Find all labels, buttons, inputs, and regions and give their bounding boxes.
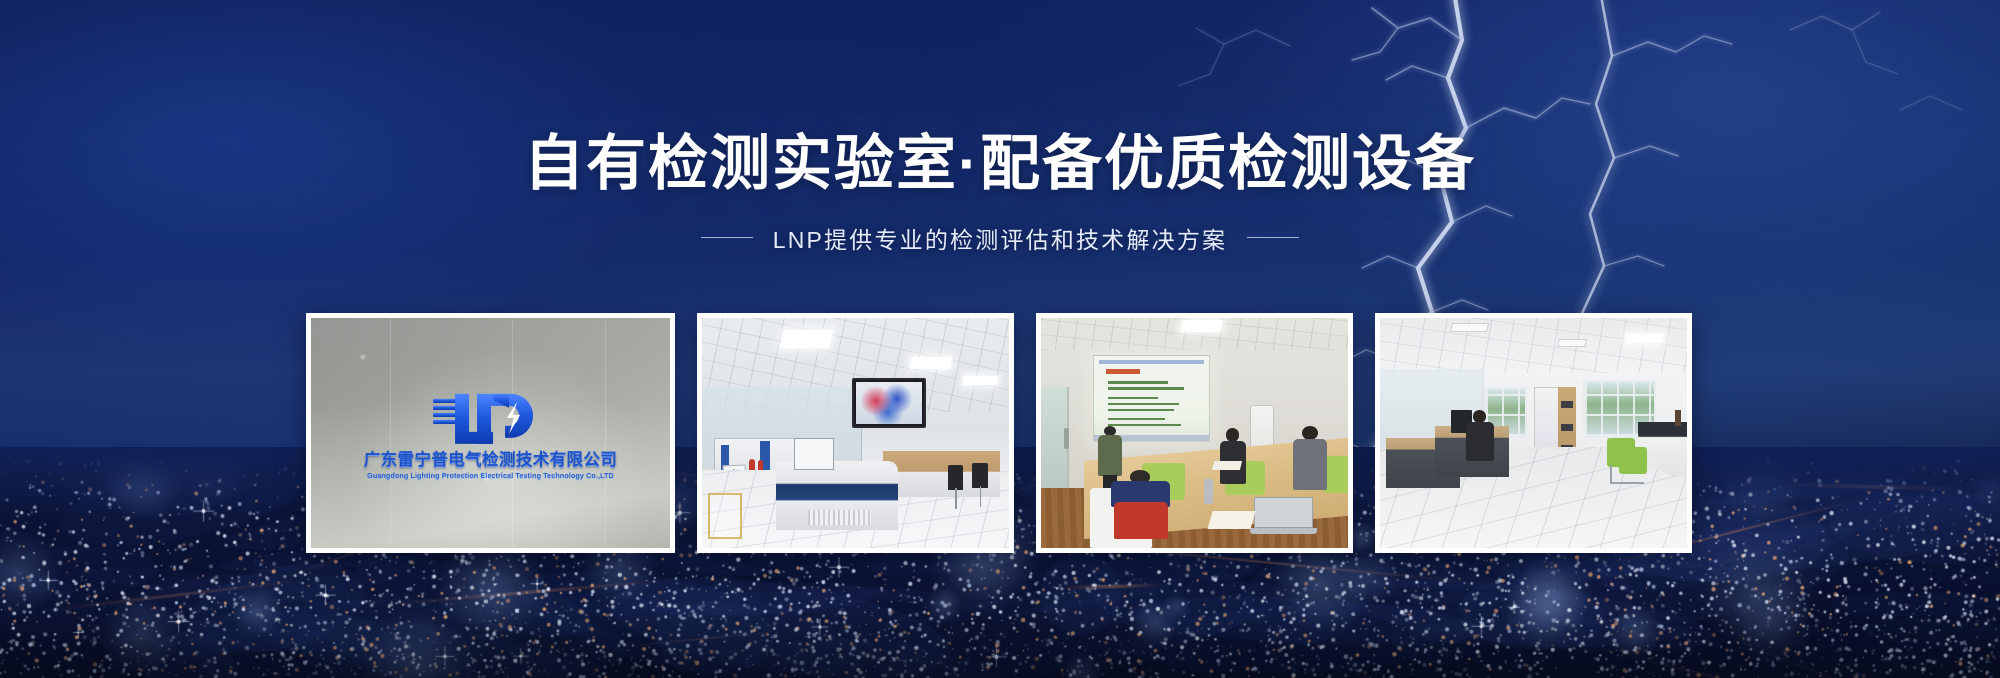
attendee-right	[1293, 426, 1327, 490]
shelf-item	[1561, 401, 1573, 408]
counter-item	[1675, 410, 1681, 426]
hero-text-block: 自有检测实验室·配备优质检测设备 LNP提供专业的检测评估和技术解决方案	[0, 132, 2000, 255]
photo-laboratory-image	[702, 318, 1009, 548]
photo-office-image	[1380, 318, 1687, 548]
slide-heading	[1106, 369, 1140, 373]
slide-line	[1108, 409, 1175, 411]
door-handle-icon	[1064, 428, 1069, 449]
lab-wall-monitor	[852, 378, 926, 429]
lab-chair	[948, 465, 963, 490]
ceiling-light	[910, 357, 952, 369]
shelf-item	[1561, 424, 1573, 431]
ceiling-light	[1625, 334, 1663, 343]
laptop-screen	[1254, 497, 1313, 527]
logo-english-name: Guangdong Lighting Protection Electrical…	[333, 471, 649, 480]
person-jacket	[1114, 502, 1168, 539]
slide-line	[1108, 397, 1158, 399]
chair-frame	[1610, 465, 1644, 483]
photo-logo-wall-image: 广东雷宁普电气检测技术有限公司 Guangdong Lighting Prote…	[311, 318, 670, 548]
papers	[1207, 511, 1255, 529]
gallery-photo-office[interactable]	[1375, 313, 1692, 553]
attendee-front	[1109, 470, 1173, 544]
slide-titlebar	[1099, 360, 1205, 364]
logo-chinese-name: 广东雷宁普电气检测技术有限公司	[333, 452, 649, 469]
lab-chair	[972, 463, 987, 488]
attendee-mid	[1219, 428, 1247, 483]
lnp-logo-sign: 广东雷宁普电气检测技术有限公司 Guangdong Lighting Prote…	[333, 386, 649, 480]
hero-banner: 自有检测实验室·配备优质检测设备 LNP提供专业的检测评估和技术解决方案	[0, 0, 2000, 678]
gallery-photo-logo-wall[interactable]: 广东雷宁普电气检测技术有限公司 Guangdong Lighting Prote…	[306, 313, 675, 553]
ceiling-vent	[1557, 339, 1586, 347]
page-subtitle: LNP提供专业的检测评估和技术解决方案	[773, 221, 1228, 255]
thermos	[1204, 479, 1213, 504]
chair-leg	[980, 486, 982, 507]
monitor-mount	[886, 426, 892, 428]
photo-meeting-room-image	[1041, 318, 1348, 548]
gallery-photo-laboratory[interactable]	[697, 313, 1014, 553]
person-body	[1293, 439, 1327, 491]
office-worker	[1466, 410, 1494, 461]
ceiling-light	[780, 330, 834, 348]
person-head	[1226, 428, 1239, 441]
slide-line	[1108, 403, 1179, 405]
photo-gallery: 广东雷宁普电气检测技术有限公司 Guangdong Lighting Prote…	[306, 313, 1692, 553]
notebook	[1212, 461, 1242, 470]
page-title: 自有检测实验室·配备优质检测设备	[0, 132, 2000, 197]
monitor-screen	[856, 382, 922, 425]
lnp-monogram-icon	[432, 386, 550, 448]
person-body	[1466, 422, 1494, 460]
slide-line	[1108, 418, 1165, 420]
rule-right-icon	[1247, 237, 1299, 238]
console-monitor	[794, 438, 834, 470]
laptop	[1250, 497, 1318, 543]
laptop-keyboard	[1250, 528, 1318, 534]
chair-leg	[955, 488, 957, 509]
ceiling-light	[1181, 320, 1223, 332]
meeting-chair	[1323, 456, 1348, 493]
subtitle-row: LNP提供专业的检测评估和技术解决方案	[0, 221, 2000, 255]
slide-line	[1108, 381, 1168, 383]
slide-line	[1108, 387, 1184, 389]
ceiling-vent	[1449, 323, 1488, 332]
lab-stool	[708, 493, 742, 539]
gallery-photo-meeting-room[interactable]	[1036, 313, 1353, 553]
rule-left-icon	[701, 237, 753, 238]
lab-control-console	[776, 461, 899, 530]
ceiling-light	[962, 376, 997, 385]
